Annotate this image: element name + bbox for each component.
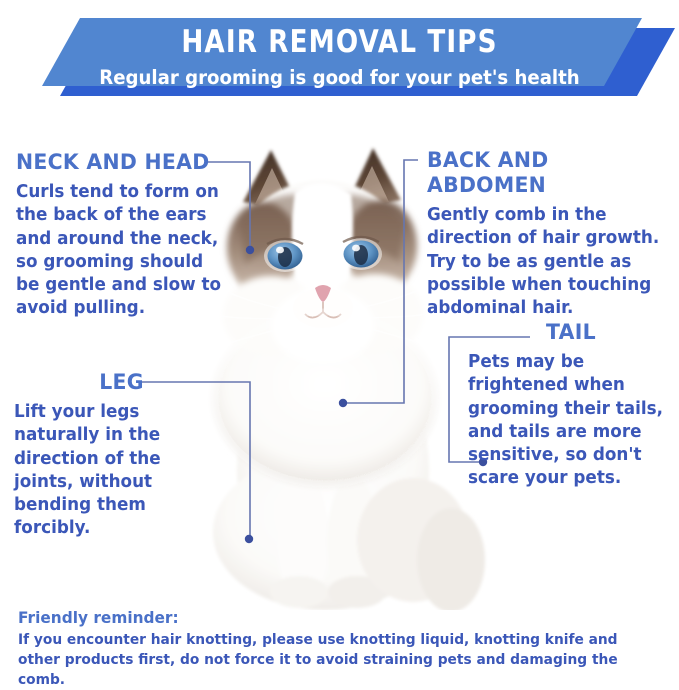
callout-neck-and-head-title: NECK AND HEAD (16, 150, 220, 175)
callout-leg: LEG Lift your legs naturally in the dire… (14, 370, 229, 541)
callout-tail-body: Pets may be frightened when grooming the… (468, 351, 666, 491)
callout-neck-and-head: NECK AND HEAD Curls tend to form on the … (16, 150, 231, 321)
callout-leg-title: LEG (19, 370, 223, 395)
header-banner: HAIR REMOVAL TIPS Regular grooming is go… (0, 10, 679, 102)
footer-title: Friendly reminder: (18, 608, 642, 627)
callout-back-and-abdomen-body: Gently comb in the direction of hair gro… (427, 204, 667, 320)
callout-tail-title: TAIL (473, 320, 669, 345)
infographic-root: HAIR REMOVAL TIPS Regular grooming is go… (0, 0, 679, 679)
callout-neck-and-head-body: Curls tend to form on the back of the ea… (16, 181, 222, 321)
page-subtitle: Regular grooming is good for your pet's … (24, 66, 655, 89)
callout-back-and-abdomen-title: BACK AND ABDOMEN (427, 148, 665, 198)
callout-tail: TAIL Pets may be frightened when groomin… (468, 320, 674, 491)
footer-body: If you encounter hair knotting, please u… (18, 630, 649, 690)
page-title: HAIR REMOVAL TIPS (20, 24, 658, 60)
callout-back-and-abdomen: BACK AND ABDOMEN Gently comb in the dire… (427, 148, 677, 320)
callout-leg-body: Lift your legs naturally in the directio… (14, 401, 220, 541)
footer-note: Friendly reminder: If you encounter hair… (18, 608, 668, 690)
